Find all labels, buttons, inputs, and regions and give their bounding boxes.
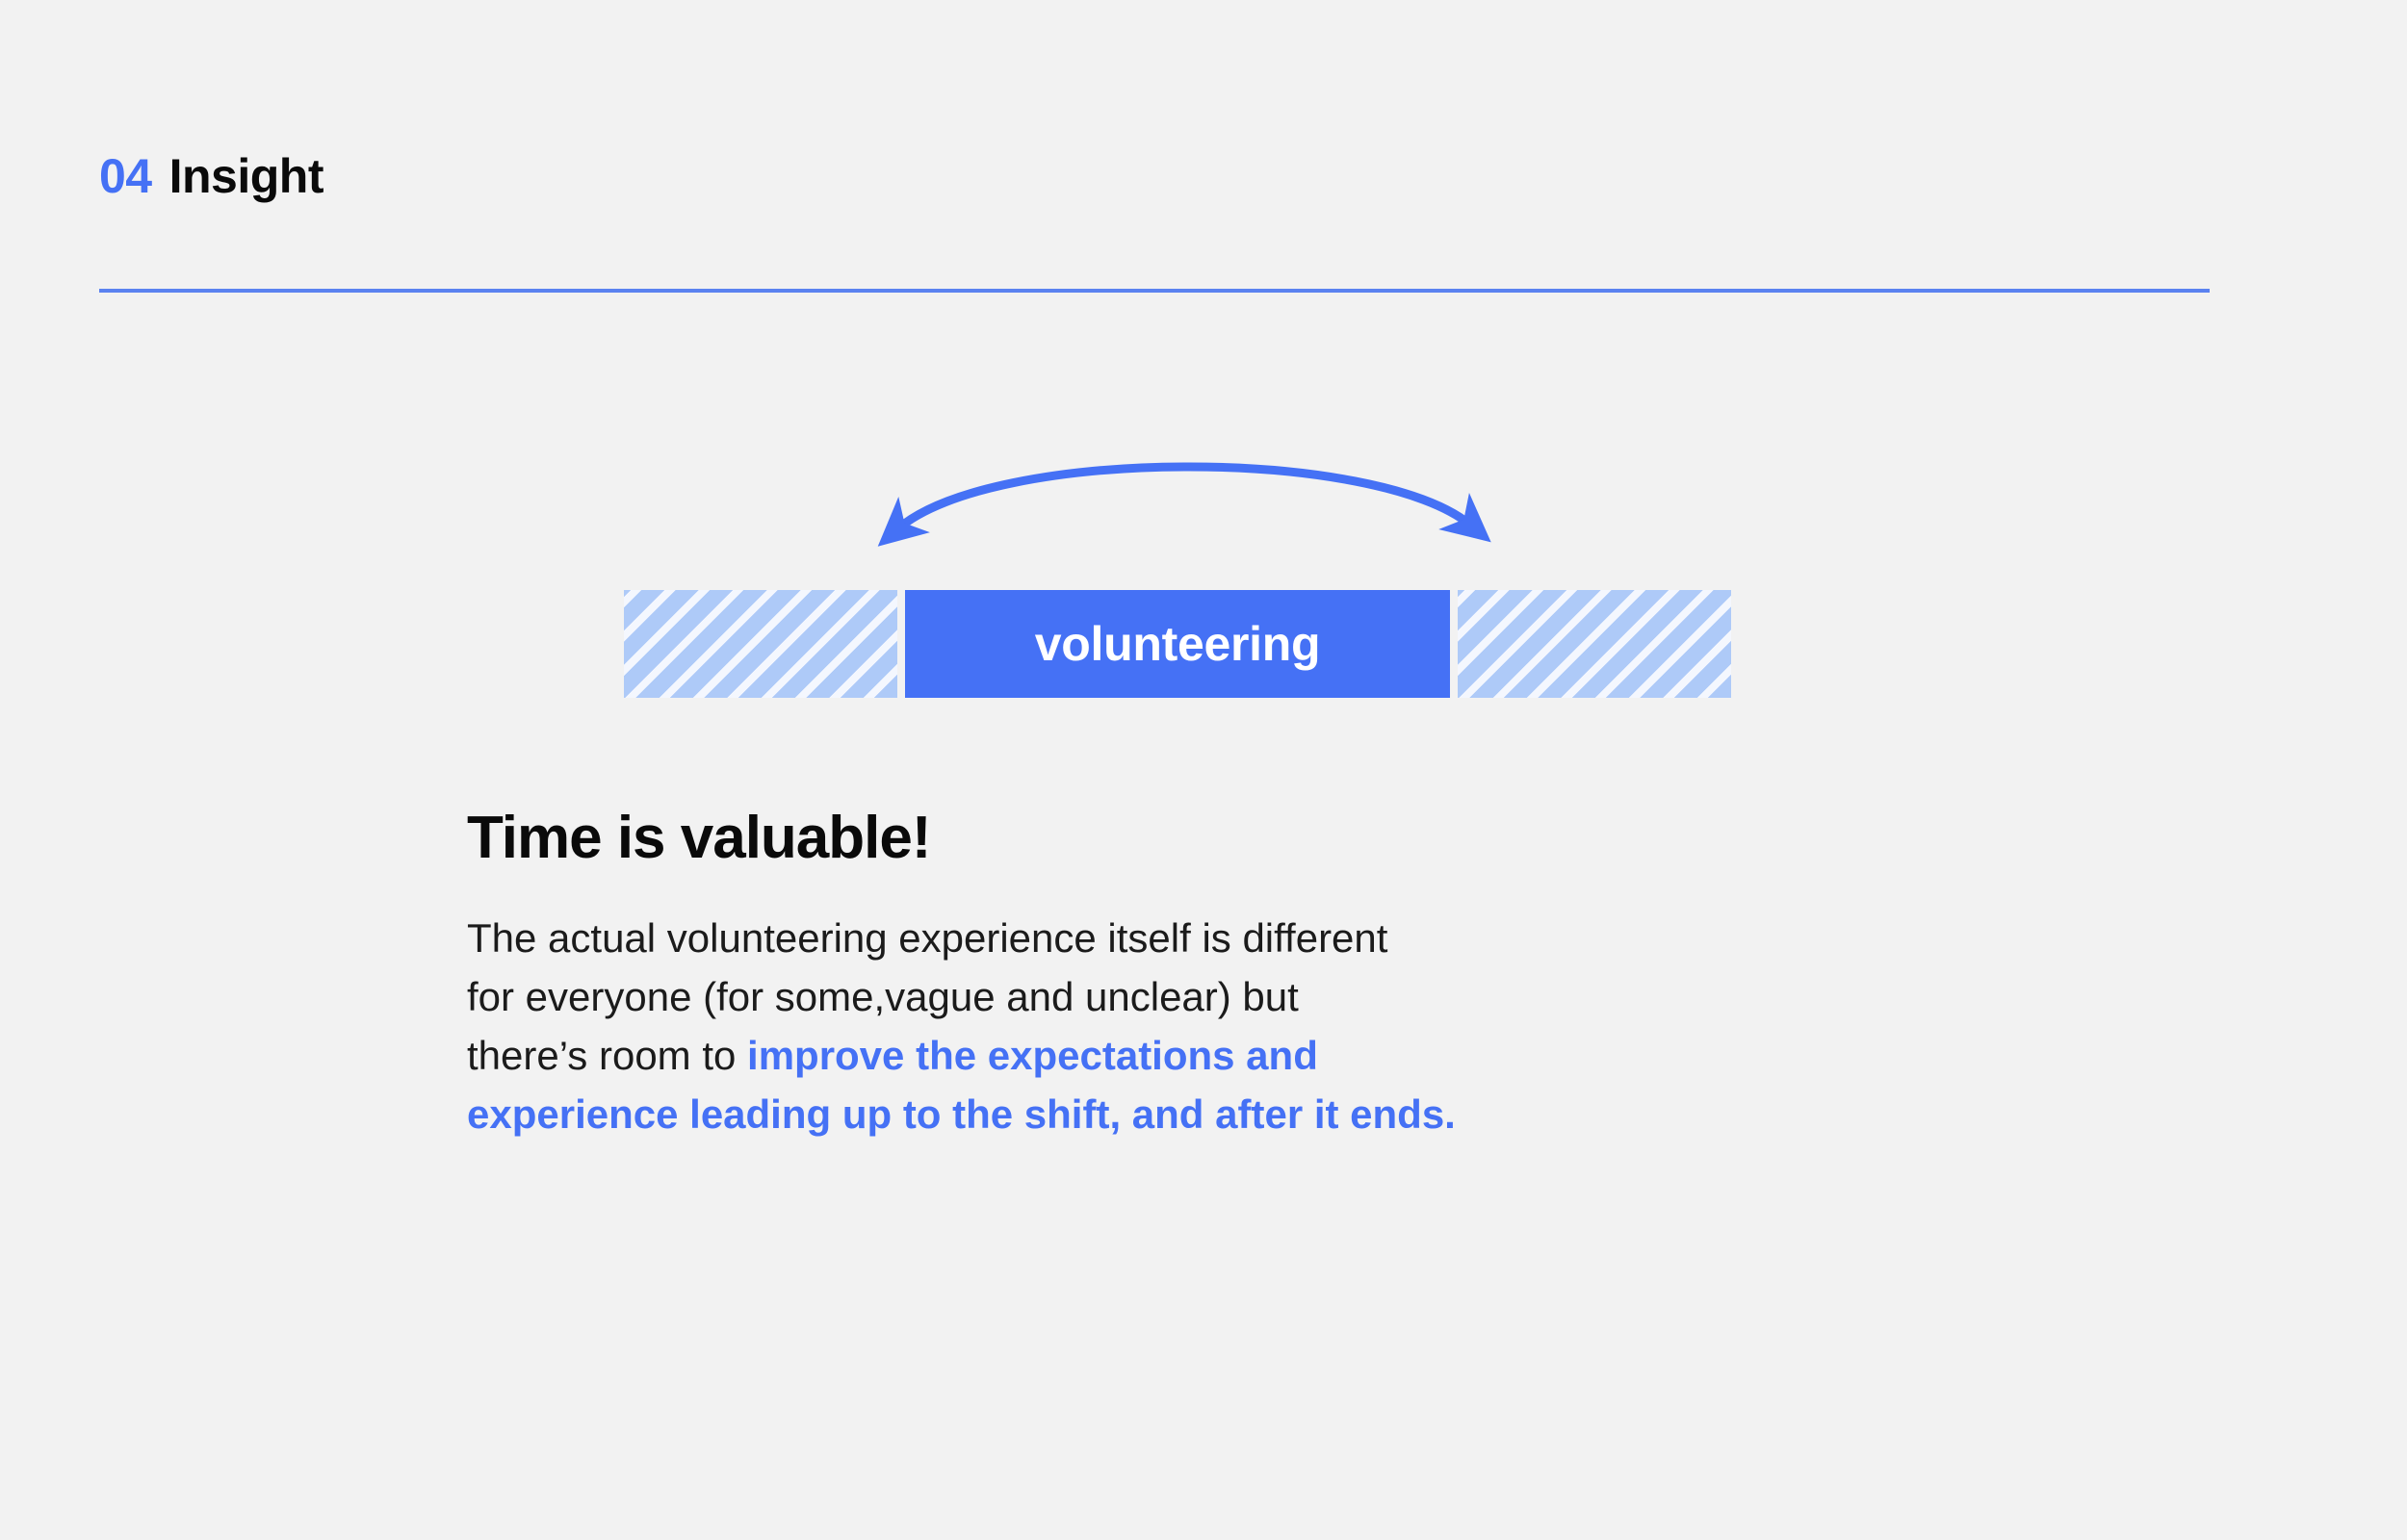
paragraph-line-3: there’s room to improve the expectations…	[467, 1027, 1873, 1086]
section-number: 04	[99, 152, 152, 200]
bar-gap-right	[1450, 590, 1458, 698]
insight-copy-block: Time is valuable! The actual volunteerin…	[467, 807, 1911, 1144]
insight-paragraph: The actual volunteering experience itsel…	[467, 910, 1873, 1144]
paragraph-line-3-plain: there’s room to	[467, 1033, 747, 1078]
paragraph-line-4-emphasis: experience leading up to the shift, and …	[467, 1091, 1456, 1137]
bar-segment-after-hatched	[1458, 590, 1731, 698]
bar-segment-volunteering: volunteering	[905, 590, 1450, 698]
paragraph-line-1-plain: The actual volunteering experience itsel…	[467, 915, 1387, 961]
paragraph-line-3-emphasis: improve the expectations and	[747, 1033, 1318, 1078]
paragraph-line-4: experience leading up to the shift, and …	[467, 1086, 1873, 1144]
journey-bar: volunteering	[624, 590, 1731, 698]
page-title: Insight	[169, 152, 324, 200]
paragraph-line-1: The actual volunteering experience itsel…	[467, 910, 1873, 968]
insight-heading: Time is valuable!	[467, 807, 1911, 869]
bar-segment-before-hatched	[624, 590, 897, 698]
paragraph-line-2: for everyone (for some,vague and unclear…	[467, 968, 1873, 1027]
header-divider	[99, 289, 2210, 293]
timeline-span-arrow-icon	[847, 423, 1521, 587]
slide-header: 04 Insight	[99, 152, 324, 200]
paragraph-line-2-plain: for everyone (for some,vague and unclear…	[467, 974, 1299, 1019]
bar-segment-volunteering-label: volunteering	[1035, 620, 1320, 668]
bar-gap-left	[897, 590, 905, 698]
slide-canvas: 04 Insight volunteering Time is valuable…	[0, 0, 2407, 1540]
